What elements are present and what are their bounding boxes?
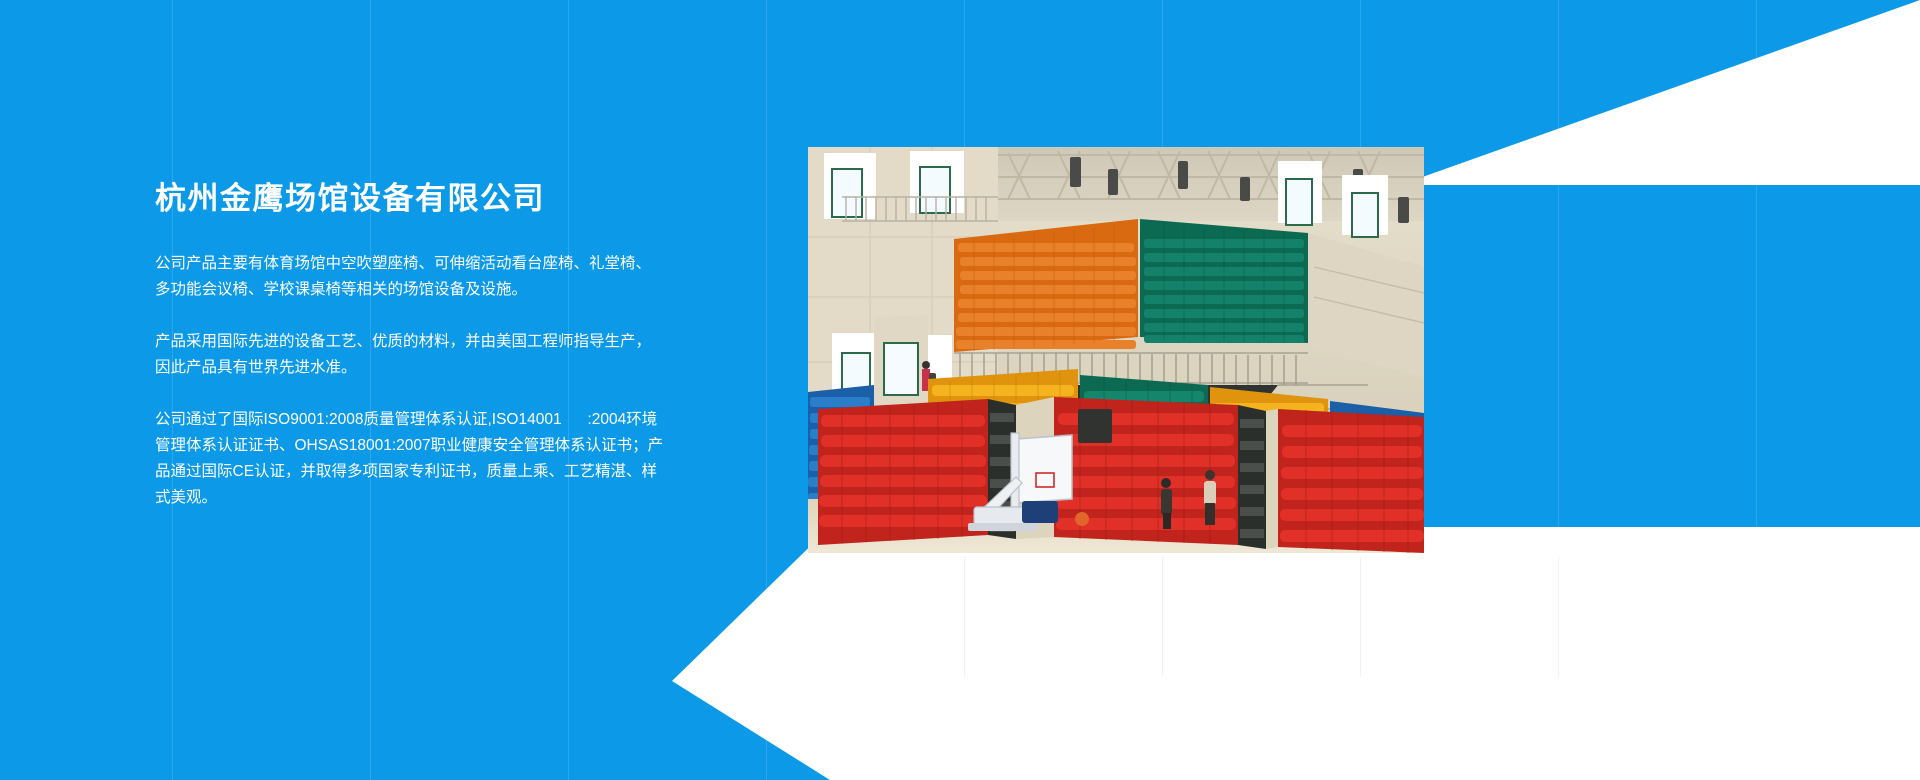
intro-paragraph-3: 公司通过了国际ISO9001:2008质量管理体系认证,ISO14001 :20… (155, 407, 665, 511)
seating-block-green-upper (1140, 219, 1308, 343)
intro-paragraph-2: 产品采用国际先进的设备工艺、优质的材料，并由美国工程师指导生产，因此产品具有世界… (155, 329, 665, 381)
hero-banner: 杭州金鹰场馆设备有限公司 公司产品主要有体育场馆中空吹塑座椅、可伸缩活动看台座椅… (0, 0, 1920, 780)
gymnasium-photo-illustration (808, 147, 1424, 553)
intro-text-block: 杭州金鹰场馆设备有限公司 公司产品主要有体育场馆中空吹塑座椅、可伸缩活动看台座椅… (155, 180, 665, 511)
intro-paragraph-1: 公司产品主要有体育场馆中空吹塑座椅、可伸缩活动看台座椅、礼堂椅、多功能会议椅、学… (155, 251, 665, 303)
seating-block-red-right (1278, 409, 1424, 553)
gymnasium-photo (808, 147, 1424, 553)
seating-block-orange-upper (954, 219, 1138, 352)
company-title: 杭州金鹰场馆设备有限公司 (155, 180, 665, 217)
